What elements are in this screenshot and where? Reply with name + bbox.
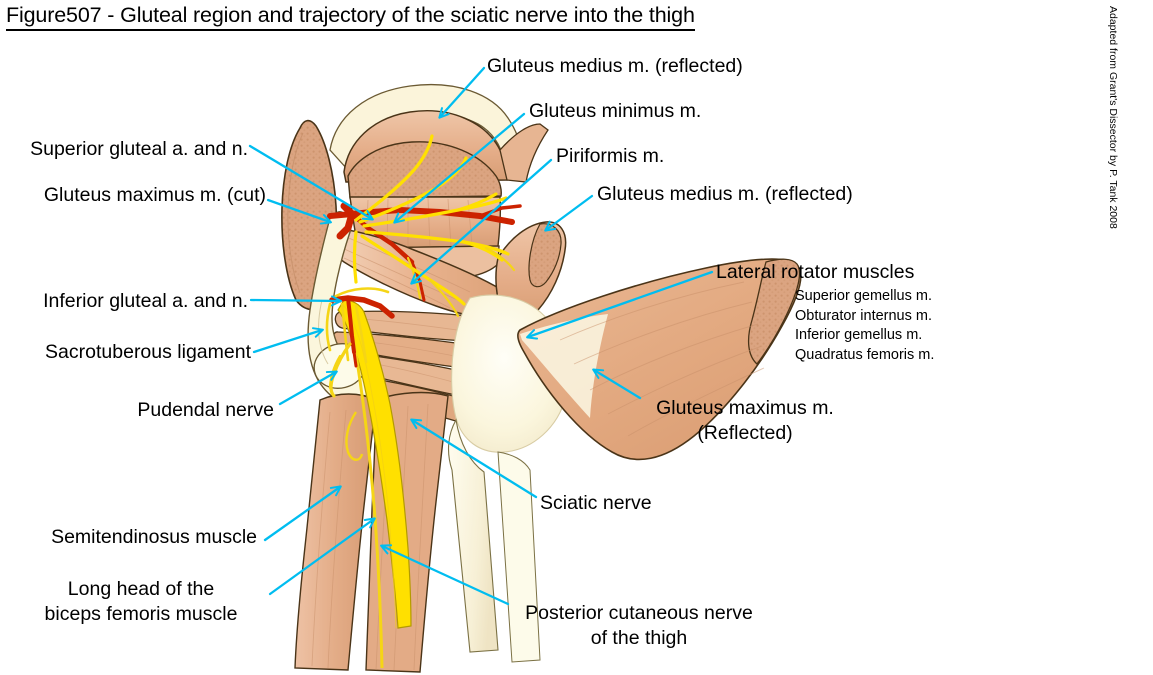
sublist-item-inferior-gemellus: Inferior gemellus m.: [795, 326, 934, 346]
label-posterior-cutaneous-line2: of the thigh: [511, 626, 767, 651]
label-biceps-femoris-line2: biceps femoris muscle: [16, 602, 266, 627]
label-lateral-rotator-muscles: Lateral rotator muscles: [716, 261, 914, 284]
label-sacrotuberous-ligament: Sacrotuberous ligament: [8, 341, 251, 364]
sublist-item-obturator-internus: Obturator internus m.: [795, 307, 934, 327]
sublist-item-superior-gemellus: Superior gemellus m.: [795, 287, 934, 307]
label-pudendal-nerve: Pudendal nerve: [8, 399, 274, 422]
label-gluteus-medius-reflected-top: Gluteus medius m. (reflected): [487, 55, 743, 78]
label-semitendinosus: Semitendinosus muscle: [8, 526, 257, 549]
figure-canvas: Figure507 - Gluteal region and trajector…: [0, 0, 1153, 675]
label-gluteus-maximus-reflected-line2: (Reflected): [645, 421, 845, 446]
label-gluteus-minimus: Gluteus minimus m.: [529, 100, 701, 123]
label-biceps-femoris-long-head: Long head of the biceps femoris muscle: [16, 577, 266, 627]
label-biceps-femoris-line1: Long head of the: [16, 577, 266, 602]
label-gluteus-medius-reflected-right: Gluteus medius m. (reflected): [597, 183, 853, 206]
label-inferior-gluteal: Inferior gluteal a. and n.: [8, 290, 248, 313]
label-gluteus-maximus-reflected: Gluteus maximus m. (Reflected): [645, 396, 845, 446]
label-sciatic-nerve: Sciatic nerve: [540, 492, 652, 515]
hamstring-muscles: [295, 393, 448, 672]
label-posterior-cutaneous-nerve: Posterior cutaneous nerve of the thigh: [511, 601, 767, 651]
label-gluteus-maximus-cut: Gluteus maximus m. (cut): [8, 184, 266, 207]
label-piriformis: Piriformis m.: [556, 145, 664, 168]
label-superior-gluteal: Superior gluteal a. and n.: [8, 138, 248, 161]
lateral-rotator-sublist: Superior gemellus m. Obturator internus …: [795, 287, 934, 365]
sublist-item-quadratus-femoris: Quadratus femoris m.: [795, 346, 934, 366]
label-gluteus-maximus-reflected-line1: Gluteus maximus m.: [645, 396, 845, 421]
label-posterior-cutaneous-line1: Posterior cutaneous nerve: [511, 601, 767, 626]
